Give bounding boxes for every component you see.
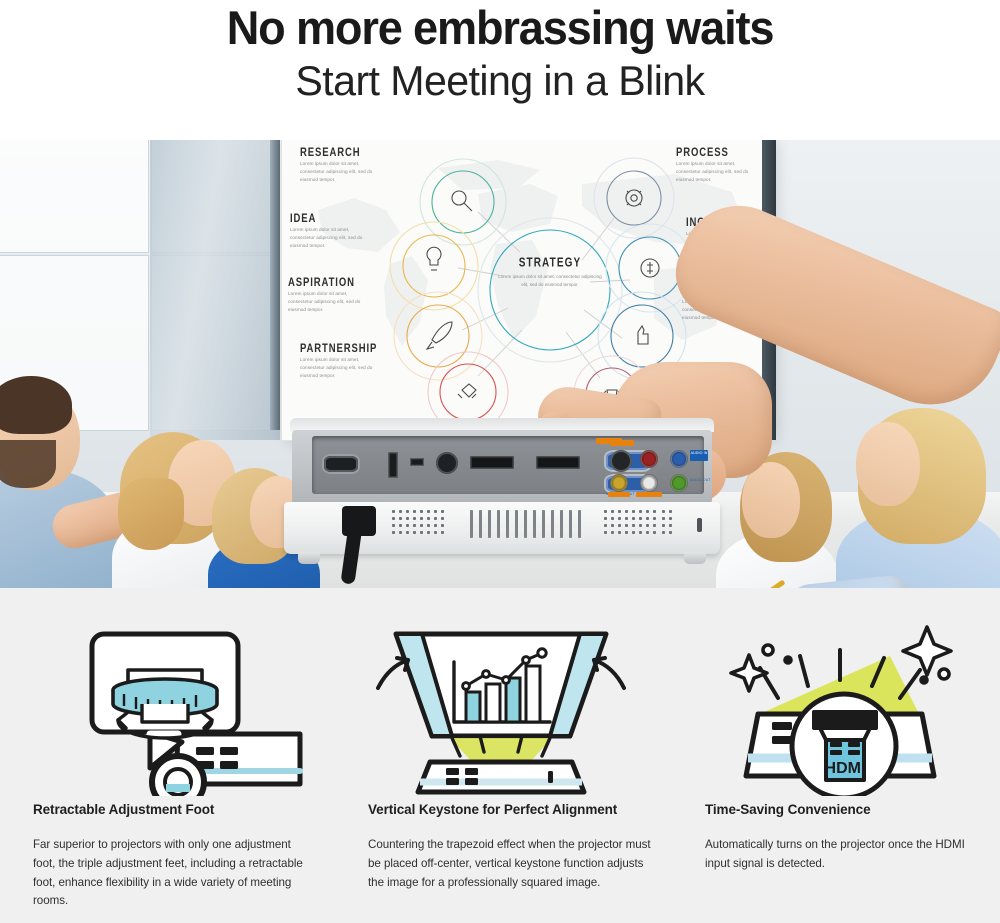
- av-connector-cluster: AUDIO IN AUDIO OUT: [608, 440, 708, 496]
- infographic-item-research: RESEARCH Lorem ipsum dolor sit amet, con…: [300, 146, 378, 184]
- features-section: Retractable Adjustment Foot Far superior…: [0, 588, 1000, 923]
- rca-yellow-jack: [610, 474, 628, 492]
- vent-slots: [470, 510, 590, 540]
- hdmi-auto-power-icon: HDMI: [668, 616, 1000, 796]
- feature-body-1: Far superior to projectors with only one…: [33, 836, 315, 911]
- feature-title-1: Retractable Adjustment Foot: [33, 802, 214, 817]
- audio-in-tag: AUDIO IN: [690, 450, 708, 461]
- projector-body: [284, 502, 720, 554]
- projector-foot-left: [298, 552, 320, 564]
- feature-title-3: Time-Saving Convenience: [705, 802, 871, 817]
- infographic-item-process: PROCESS Lorem ipsum dolor sit amet, cons…: [676, 146, 754, 184]
- audio-in-label: AUDIO IN: [690, 451, 708, 455]
- feature-column-1: Retractable Adjustment Foot Far superior…: [0, 588, 334, 923]
- hero-photo: RESEARCH Lorem ipsum dolor sit amet, con…: [0, 140, 1000, 588]
- glass-edge: [270, 140, 280, 430]
- feature-body-2: Countering the trapezoid effect when the…: [368, 836, 660, 892]
- infographic-item-idea: IDEA Lorem ipsum dolor sit amet, consect…: [290, 212, 368, 250]
- page-title: No more embrassing waits: [20, 2, 980, 55]
- page-subtitle: Start Meeting in a Blink: [10, 57, 990, 105]
- round-din-port: [436, 452, 458, 474]
- vertical-keystone-icon: [334, 616, 668, 796]
- mini-usb-port: [410, 458, 424, 466]
- kensington-lock-slot: [697, 518, 702, 532]
- hdmi-port-2: [536, 456, 580, 469]
- s-video-tag: [610, 440, 634, 446]
- feature-column-2: Vertical Keystone for Perfect Alignment …: [334, 588, 668, 923]
- s-video-port: [610, 450, 632, 472]
- hdmi-badge-label: HDMI: [825, 760, 866, 777]
- adjustment-foot-dial-icon: [0, 616, 334, 796]
- projector-device: COMPUTER IN MONITOR OUT: [284, 418, 720, 578]
- rs232-port: [324, 456, 358, 472]
- projector-port-panel: COMPUTER IN MONITOR OUT: [292, 430, 712, 504]
- infographic-item-partnership: PARTNERSHIP Lorem ipsum dolor sit amet, …: [300, 342, 378, 380]
- video-tag: [608, 492, 630, 497]
- feature-title-2: Vertical Keystone for Perfect Alignment: [368, 802, 617, 817]
- power-cord: [340, 531, 361, 584]
- usb-port: [388, 452, 398, 478]
- infographic-center-strategy: STRATEGY Lorem ipsum dolor sit amet, con…: [496, 258, 604, 289]
- hdmi-port-1: [470, 456, 514, 469]
- audio-in-jack: [670, 450, 688, 468]
- rca-tag: [636, 492, 662, 497]
- infographic-item-aspiration: ASPIRATION Lorem ipsum dolor sit amet, c…: [288, 276, 366, 314]
- rca-white-jack: [640, 474, 658, 492]
- audio-out-label: AUDIO OUT: [690, 478, 711, 482]
- glass-partition: [150, 140, 280, 440]
- feature-column-3: HDMI Time-Saving Convenience Automatical…: [668, 588, 1000, 923]
- feature-body-3: Automatically turns on the projector onc…: [705, 836, 967, 874]
- page-header: No more embrassing waits Start Meeting i…: [0, 0, 1000, 140]
- rca-red-jack: [640, 450, 658, 468]
- product-feature-page: No more embrassing waits Start Meeting i…: [0, 0, 1000, 923]
- audio-out-jack: [670, 474, 688, 492]
- projector-foot-right: [684, 552, 706, 564]
